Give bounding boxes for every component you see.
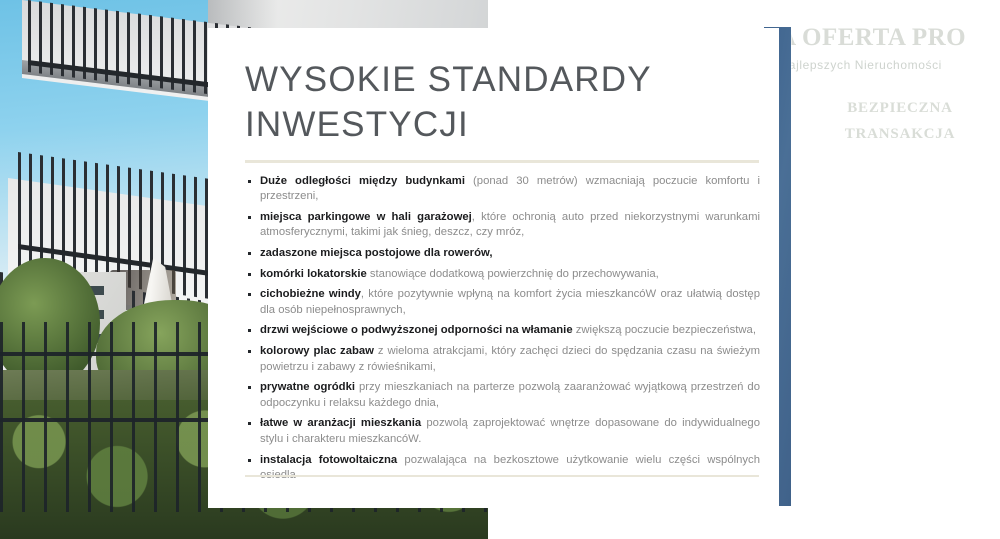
feature-item: miejsca parkingowe w hali garażowej, któ… bbox=[245, 210, 760, 241]
feature-lead: łatwe w aranżacji mieszkania bbox=[260, 417, 421, 429]
slide-canvas: DOBRA OFERTA PRO Agencja Najlepszych Nie… bbox=[0, 0, 1000, 539]
watermark-badge: BEZPIECZNA TRANSAKCJA bbox=[800, 95, 1000, 147]
feature-list: Duże odległości między budynkami (ponad … bbox=[245, 174, 760, 484]
feature-lead: Duże odległości między budynkami bbox=[260, 175, 465, 187]
page-title-line1: WYSOKIE STANDARDY bbox=[245, 60, 652, 99]
feature-item: prywatne ogródki przy mieszkaniach na pa… bbox=[245, 380, 760, 411]
feature-lead: drzwi wejściowe o podwyższonej odpornośc… bbox=[260, 324, 573, 336]
title-divider bbox=[245, 160, 759, 163]
feature-lead: prywatne ogródki bbox=[260, 381, 355, 393]
feature-lead: instalacja fotowoltaiczna bbox=[260, 454, 397, 466]
bottom-divider bbox=[245, 475, 759, 477]
feature-item: komórki lokatorskie stanowiące dodatkową… bbox=[245, 267, 760, 283]
feature-item: drzwi wejściowe o podwyższonej odpornośc… bbox=[245, 323, 760, 339]
feature-item: kolorowy plac zabaw z wieloma atrakcjami… bbox=[245, 344, 760, 375]
feature-lead: cichobieżne windy bbox=[260, 288, 361, 300]
watermark-badge-line1: BEZPIECZNA bbox=[800, 95, 1000, 121]
content-card: WYSOKIE STANDARDY INWESTYCJI Duże odległ… bbox=[208, 28, 779, 508]
feature-item: zadaszone miejsca postojowe dla rowerów, bbox=[245, 246, 760, 262]
feature-item: instalacja fotowoltaiczna pozwalająca na… bbox=[245, 453, 760, 484]
feature-item: Duże odległości między budynkami (ponad … bbox=[245, 174, 760, 205]
card-body: WYSOKIE STANDARDY INWESTYCJI Duże odległ… bbox=[245, 58, 760, 489]
feature-lead: zadaszone miejsca postojowe dla rowerów, bbox=[260, 247, 493, 259]
feature-rest: stanowiące dodatkową powierzchnię do prz… bbox=[367, 268, 659, 280]
watermark-badge-line2: TRANSAKCJA bbox=[800, 121, 1000, 147]
page-title: WYSOKIE STANDARDY INWESTYCJI bbox=[245, 58, 760, 148]
feature-item: łatwe w aranżacji mieszkania pozwolą zap… bbox=[245, 416, 760, 447]
feature-lead: komórki lokatorskie bbox=[260, 268, 367, 280]
feature-item: cichobieżne windy, które pozytywnie wpły… bbox=[245, 287, 760, 318]
feature-rest: zwiększą poczucie bezpieczeństwa, bbox=[573, 324, 756, 336]
feature-lead: miejsca parkingowe w hali garażowej bbox=[260, 211, 472, 223]
page-title-line2: INWESTYCJI bbox=[245, 105, 469, 144]
feature-lead: kolorowy plac zabaw bbox=[260, 345, 374, 357]
